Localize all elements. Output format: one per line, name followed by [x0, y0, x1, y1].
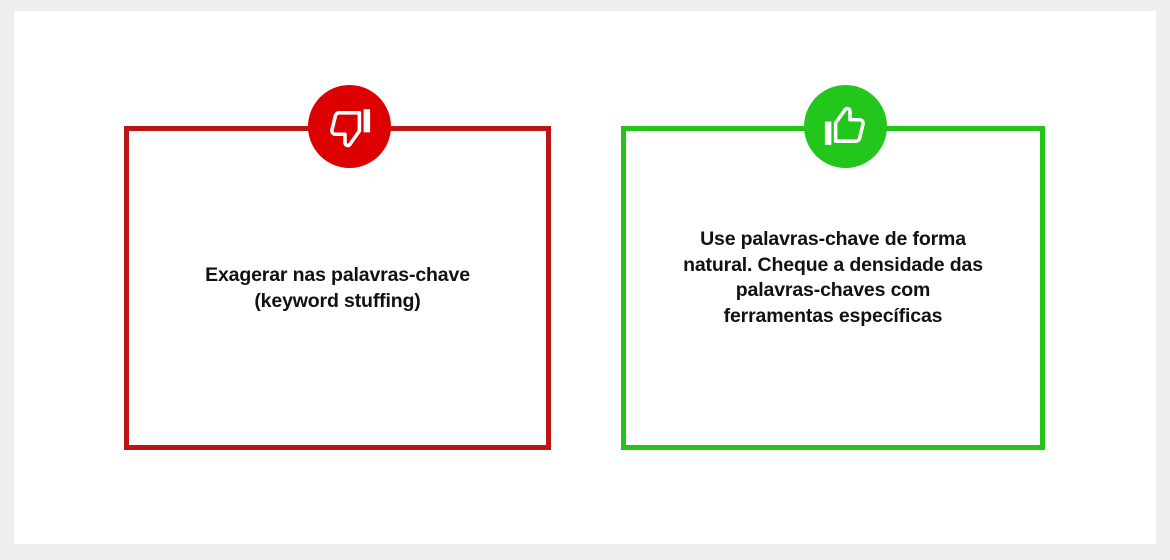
card-good-practice[interactable]: Use palavras-chave de forma natural. Che… — [621, 126, 1045, 450]
slide-panel: Exagerar nas palavras-chave (keyword stu… — [14, 11, 1156, 544]
card-bad-practice[interactable]: Exagerar nas palavras-chave (keyword stu… — [124, 126, 551, 450]
thumbs-down-icon — [308, 85, 391, 168]
thumbs-up-icon — [804, 85, 887, 168]
card-bad-practice-text: Exagerar nas palavras-chave (keyword stu… — [129, 263, 546, 314]
comparison-cards-row: Exagerar nas palavras-chave (keyword stu… — [14, 11, 1156, 544]
card-good-practice-text: Use palavras-chave de forma natural. Che… — [626, 227, 1040, 329]
